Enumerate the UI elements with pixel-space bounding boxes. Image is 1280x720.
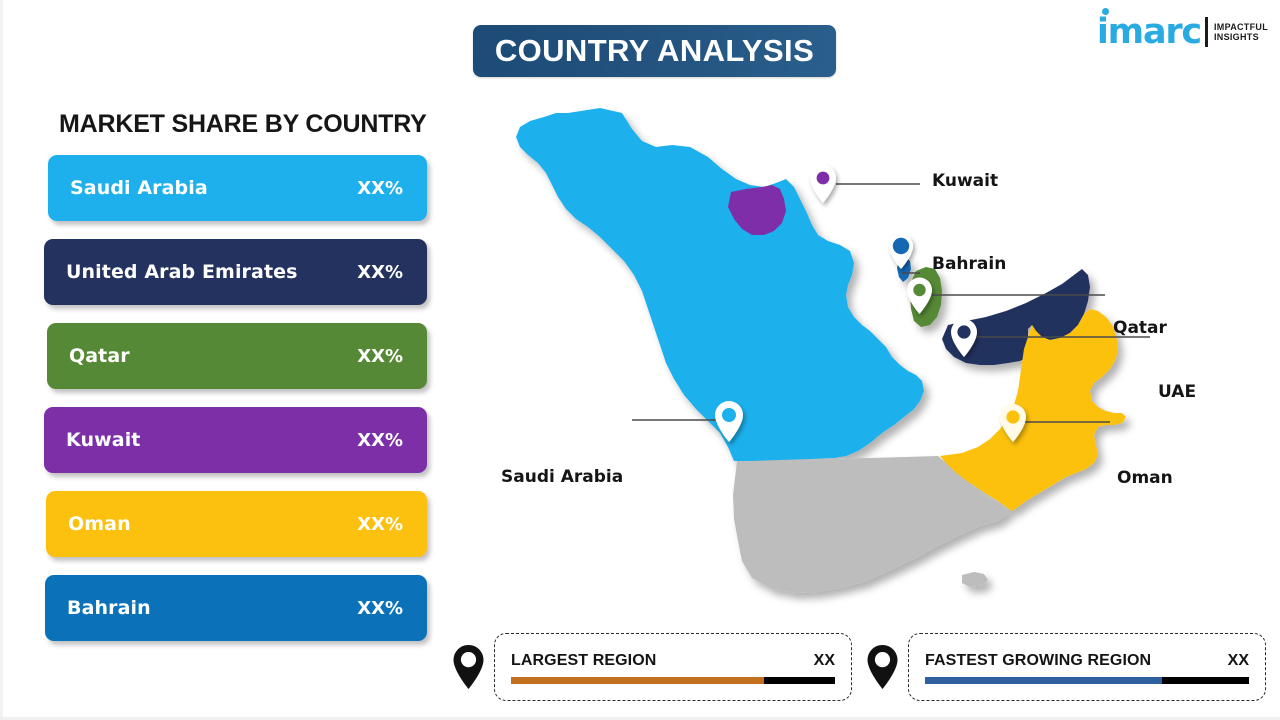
logo-wordmark: imarc <box>1097 15 1201 50</box>
country-share-value: XX% <box>357 598 403 619</box>
country-share-label: Bahrain <box>67 597 357 619</box>
logo-tagline-line1: IMPACTFUL <box>1214 22 1268 32</box>
country-share-value: XX% <box>357 514 403 535</box>
page-title-banner: COUNTRY ANALYSIS <box>473 25 836 77</box>
largest-region-row: LARGEST REGION XX <box>511 652 835 670</box>
fastest-growing-region-progress <box>925 677 1249 684</box>
largest-region-label: LARGEST REGION <box>511 652 656 670</box>
logo-tagline-line2: INSIGHTS <box>1214 32 1268 42</box>
fastest-growing-region-card: FASTEST GROWING REGION XX <box>866 633 1266 701</box>
country-share-row[interactable]: Saudi ArabiaXX% <box>48 155 427 221</box>
logo-wordmark-text: imarc <box>1097 12 1201 52</box>
largest-region-progress-fill <box>511 677 764 684</box>
fastest-growing-region-row: FASTEST GROWING REGION XX <box>925 652 1249 670</box>
country-share-label: Qatar <box>69 345 357 367</box>
map-label-kuwait: Kuwait <box>932 171 998 191</box>
map-label-saudi-arabia: Saudi Arabia <box>501 467 623 487</box>
map-pin-kuwait[interactable] <box>810 165 836 203</box>
country-share-row[interactable]: KuwaitXX% <box>44 407 427 473</box>
fastest-growing-region-value: XX <box>1228 652 1249 670</box>
map-pin-icon <box>866 644 899 690</box>
country-share-label: Oman <box>68 513 357 535</box>
map-region-oman-exclave <box>962 572 988 587</box>
country-share-row[interactable]: United Arab EmiratesXX% <box>44 239 427 305</box>
fastest-growing-region-label: FASTEST GROWING REGION <box>925 652 1151 670</box>
country-share-label: Kuwait <box>66 429 357 451</box>
country-share-value: XX% <box>357 178 403 199</box>
map-label-oman: Oman <box>1117 468 1173 488</box>
imarc-logo: imarc IMPACTFUL INSIGHTS <box>1097 12 1268 52</box>
map-label-uae: UAE <box>1158 382 1196 402</box>
logo-tagline: IMPACTFUL INSIGHTS <box>1214 22 1268 42</box>
country-share-value: XX% <box>357 262 403 283</box>
country-share-label: United Arab Emirates <box>66 261 357 283</box>
country-share-value: XX% <box>357 430 403 451</box>
map-pin-icon <box>452 644 485 690</box>
sidebar-heading: MARKET SHARE BY COUNTRY <box>59 110 427 139</box>
largest-region-value: XX <box>814 652 835 670</box>
slide-canvas: COUNTRY ANALYSIS imarc IMPACTFUL INSIGHT… <box>0 0 1280 720</box>
map-label-qatar: Qatar <box>1113 318 1167 338</box>
largest-region-box: LARGEST REGION XX <box>494 633 852 701</box>
region-map: Kuwait Bahrain Qatar UAE Saudi Arabia Om… <box>450 95 1280 625</box>
market-share-list: Saudi ArabiaXX%United Arab EmiratesXX%Qa… <box>0 155 450 659</box>
country-share-value: XX% <box>357 346 403 367</box>
page-title: COUNTRY ANALYSIS <box>495 33 814 69</box>
largest-region-card: LARGEST REGION XX <box>452 633 852 701</box>
fastest-growing-region-progress-fill <box>925 677 1162 684</box>
logo-dot-icon <box>1102 8 1109 15</box>
logo-divider <box>1205 17 1208 47</box>
fastest-growing-region-box: FASTEST GROWING REGION XX <box>908 633 1266 701</box>
largest-region-progress <box>511 677 835 684</box>
country-share-label: Saudi Arabia <box>70 177 357 199</box>
map-label-bahrain: Bahrain <box>932 254 1006 274</box>
country-share-row[interactable]: QatarXX% <box>47 323 427 389</box>
country-share-row[interactable]: OmanXX% <box>46 491 427 557</box>
country-share-row[interactable]: BahrainXX% <box>45 575 427 641</box>
